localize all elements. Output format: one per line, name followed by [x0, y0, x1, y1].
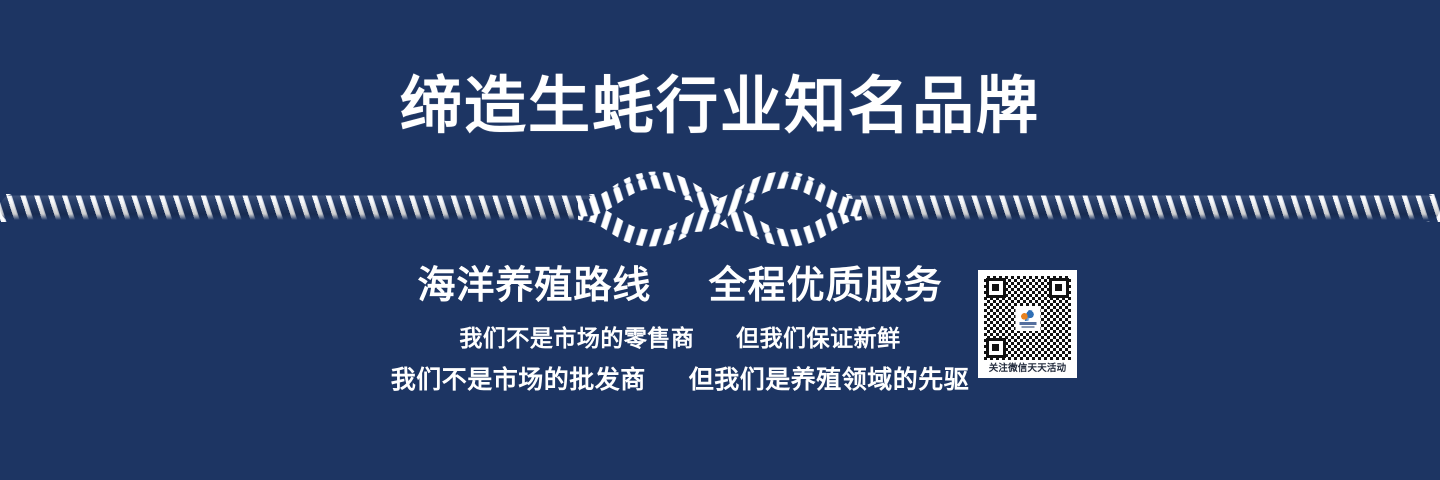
qr-code-panel[interactable]: 关注微信天天活动 — [978, 270, 1077, 378]
qr-finder-top-left — [986, 278, 1006, 298]
rope-segment-right — [840, 194, 1440, 222]
subtitle-right: 全程优质服务 — [709, 265, 943, 307]
qr-code-image[interactable] — [984, 276, 1071, 360]
rope-segment-left — [0, 194, 600, 222]
brand-logo-subtext — [1021, 326, 1034, 328]
promo-banner: 缔造生蚝行业知名品牌 — [0, 0, 1440, 480]
qr-finder-bottom-left — [986, 338, 1006, 358]
brand-logo-wordmark — [1019, 322, 1036, 325]
tagline-1-left: 我们不是市场的零售商 — [459, 325, 694, 351]
brand-logo-icon — [1020, 310, 1035, 321]
subtitle-left: 海洋养殖路线 — [417, 265, 651, 307]
rope-divider — [0, 168, 1440, 248]
subtitle: 海洋养殖路线 全程优质服务 — [0, 262, 1440, 310]
tagline-row-1: 我们不是市场的零售商 但我们保证新鲜 — [0, 322, 1440, 354]
qr-center-logo — [1015, 306, 1040, 331]
tagline-row-2: 我们不是市场的批发商 但我们是养殖领域的先驱 — [0, 364, 1440, 396]
rope-knot-icon — [578, 168, 862, 248]
tagline-2-right: 但我们是养殖领域的先驱 — [689, 366, 970, 394]
tagline-2-left: 我们不是市场的批发商 — [391, 366, 646, 394]
qr-finder-top-right — [1049, 278, 1069, 298]
tagline-1-right: 但我们保证新鲜 — [736, 325, 901, 351]
page-title: 缔造生蚝行业知名品牌 — [0, 68, 1440, 146]
qr-caption: 关注微信天天活动 — [984, 360, 1071, 378]
